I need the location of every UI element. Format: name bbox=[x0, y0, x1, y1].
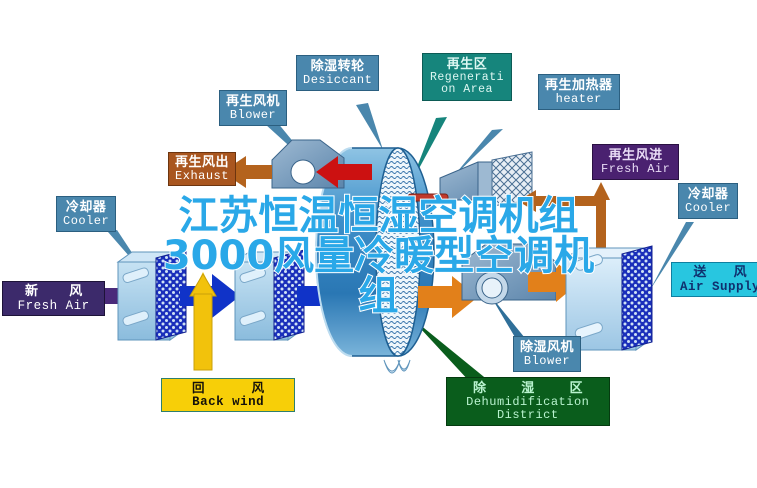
label-cn: 除湿转轮 bbox=[303, 59, 372, 74]
label-regen-heater[interactable]: 再生加热器 heater bbox=[538, 74, 620, 110]
label-en: Blower bbox=[226, 109, 280, 122]
cooler-unit-2 bbox=[235, 250, 304, 340]
regen-heater-unit bbox=[440, 152, 532, 206]
label-dehumid-district[interactable]: 除 湿 区 Dehumidification District bbox=[446, 377, 610, 426]
label-cn: 送 风 bbox=[680, 265, 757, 280]
label-cooler-right[interactable]: 冷却器 Cooler bbox=[678, 183, 738, 219]
label-regen-exhaust[interactable]: 再生风出 Exhaust bbox=[168, 152, 236, 186]
label-en: Dehumidification bbox=[457, 396, 599, 409]
label-dehumid-blower[interactable]: 除湿风机 Blower bbox=[513, 336, 581, 372]
label-cn: 再生风进 bbox=[601, 148, 670, 163]
label-en: Cooler bbox=[685, 202, 731, 215]
label-en-2: on Area bbox=[430, 84, 504, 97]
label-en: heater bbox=[545, 93, 613, 106]
label-en: Cooler bbox=[63, 215, 109, 228]
supply-coil-unit bbox=[566, 246, 652, 350]
label-cn: 冷却器 bbox=[63, 200, 109, 215]
label-cn: 再生加热器 bbox=[545, 78, 613, 93]
label-en: Exhaust bbox=[175, 170, 229, 183]
label-cn: 除 湿 区 bbox=[457, 381, 599, 396]
label-cooler-left[interactable]: 冷却器 Cooler bbox=[56, 196, 116, 232]
label-cn: 除湿风机 bbox=[520, 340, 574, 355]
label-en: Air Supply bbox=[680, 280, 757, 294]
label-cn: 再生风机 bbox=[226, 94, 280, 109]
label-cn: 冷却器 bbox=[685, 187, 731, 202]
label-regen-area[interactable]: 再生区 Regenerati on Area bbox=[422, 53, 512, 101]
label-en: Fresh Air bbox=[11, 299, 96, 313]
label-fresh-air-in[interactable]: 新 风 Fresh Air bbox=[2, 281, 105, 316]
label-en: Fresh Air bbox=[601, 163, 670, 176]
label-cn: 回 风 bbox=[170, 381, 286, 395]
diagram-canvas: 除湿转轮 Desiccant 再生风机 Blower 再生风出 Exhaust … bbox=[0, 0, 757, 488]
label-en: Back wind bbox=[170, 395, 286, 409]
label-en: Desiccant bbox=[303, 74, 372, 87]
label-cn: 再生风出 bbox=[175, 155, 229, 170]
label-cn: 新 风 bbox=[11, 284, 96, 299]
label-air-supply[interactable]: 送 风 Air Supply bbox=[671, 262, 757, 297]
label-desiccant-wheel[interactable]: 除湿转轮 Desiccant bbox=[296, 55, 379, 91]
cooler-unit-1 bbox=[118, 250, 186, 340]
label-en: Blower bbox=[520, 355, 574, 368]
label-back-wind[interactable]: 回 风 Back wind bbox=[161, 378, 295, 412]
label-regen-fresh-air[interactable]: 再生风进 Fresh Air bbox=[592, 144, 679, 180]
label-regen-blower[interactable]: 再生风机 Blower bbox=[219, 90, 287, 126]
label-en-2: District bbox=[457, 409, 599, 422]
label-cn: 再生区 bbox=[430, 57, 504, 72]
